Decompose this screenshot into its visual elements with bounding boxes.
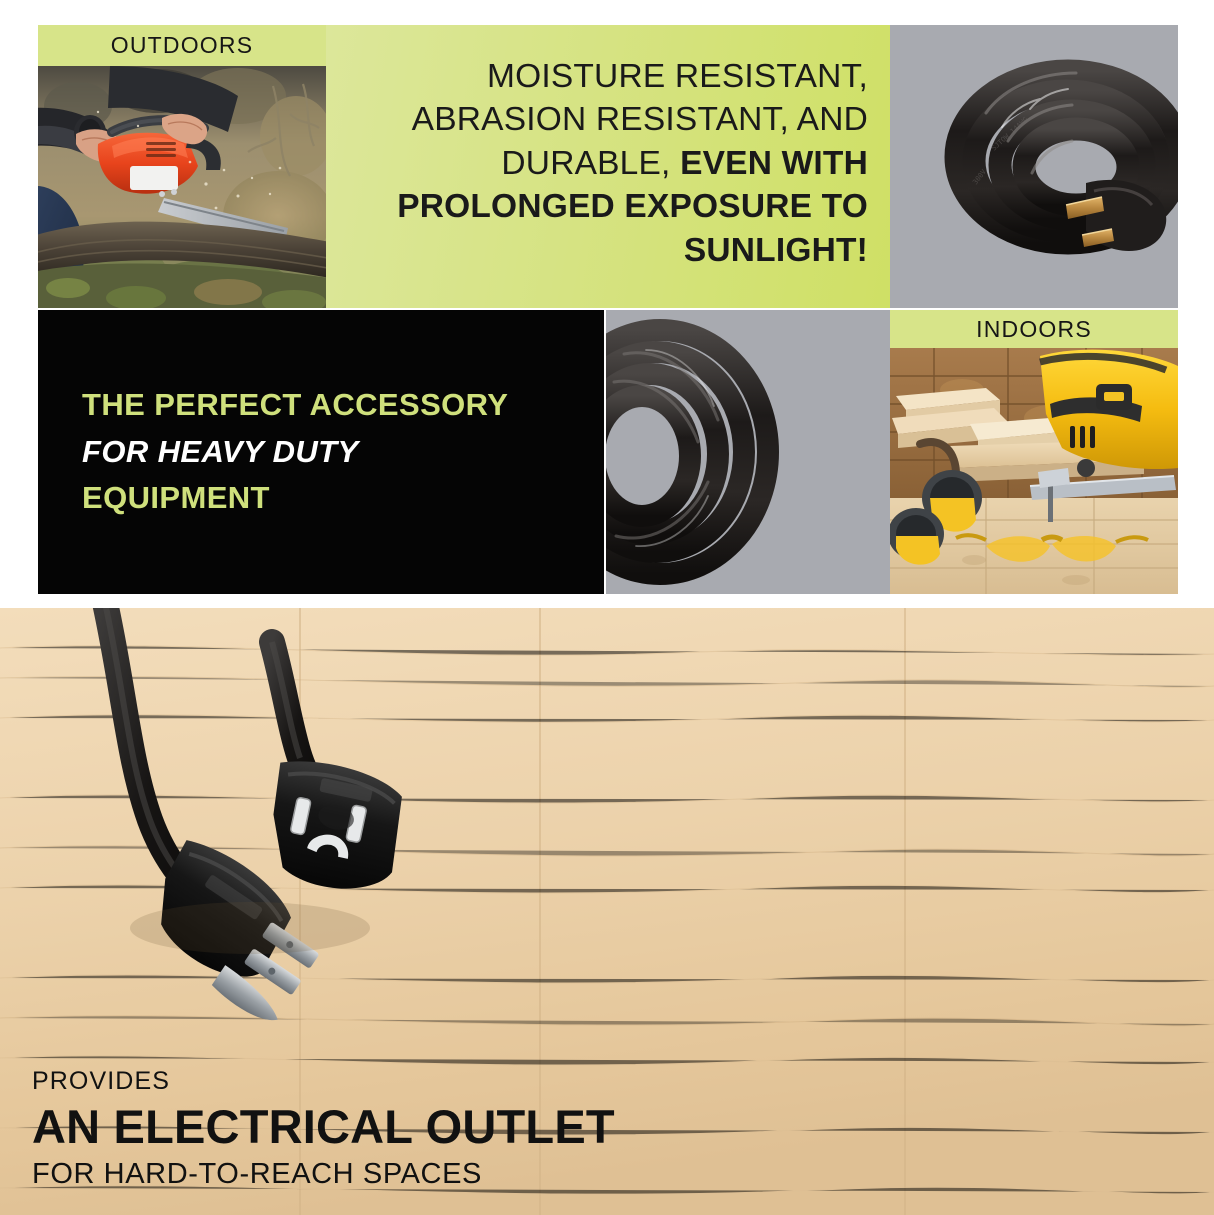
cord-coil-photo-top: SJTOW 14AWG 300V: [890, 25, 1178, 308]
indoors-label-strip: INDOORS: [890, 310, 1178, 348]
outdoors-label-strip: OUTDOORS: [38, 25, 326, 66]
outdoors-photo: [38, 66, 326, 308]
statement-line-2: FOR HEAVY DUTY: [82, 429, 604, 476]
collage-section: OUTDOORS: [0, 0, 1214, 600]
hero-line-3: FOR HARD-TO-REACH SPACES: [32, 1158, 615, 1191]
chainsaw-scene-graphic: [38, 66, 326, 308]
cord-coil-photo-mid: [606, 310, 890, 594]
outdoors-card: OUTDOORS: [38, 25, 326, 308]
outdoors-label: OUTDOORS: [111, 32, 254, 59]
indoors-photo: [890, 348, 1178, 594]
hero-section: 10mm(3/8") 17 - 19 - 21 - 23 - 25: [0, 608, 1214, 1215]
headline-text: MOISTURE RESISTANT, ABRASION RESISTANT, …: [354, 55, 868, 273]
coiled-cord-with-plug-graphic: SJTOW 14AWG 300V: [890, 25, 1178, 308]
hero-line-1: PROVIDES: [32, 1067, 615, 1096]
hero-line-2: AN ELECTRICAL OUTLET: [32, 1102, 615, 1152]
headline-panel: MOISTURE RESISTANT, ABRASION RESISTANT, …: [326, 25, 890, 308]
product-infographic: OUTDOORS: [0, 0, 1214, 1215]
hero-caption: PROVIDES AN ELECTRICAL OUTLET FOR HARD-T…: [32, 1067, 615, 1191]
coiled-cord-graphic: [606, 310, 890, 594]
statement-line-3: EQUIPMENT: [82, 475, 604, 522]
indoors-label: INDOORS: [976, 316, 1092, 343]
statement-line-1: THE PERFECT ACCESSORY: [82, 382, 604, 429]
jigsaw-workshop-scene-graphic: [890, 348, 1178, 594]
statement-panel: THE PERFECT ACCESSORY FOR HEAVY DUTY EQU…: [38, 310, 604, 594]
indoors-card: INDOORS: [890, 310, 1178, 594]
